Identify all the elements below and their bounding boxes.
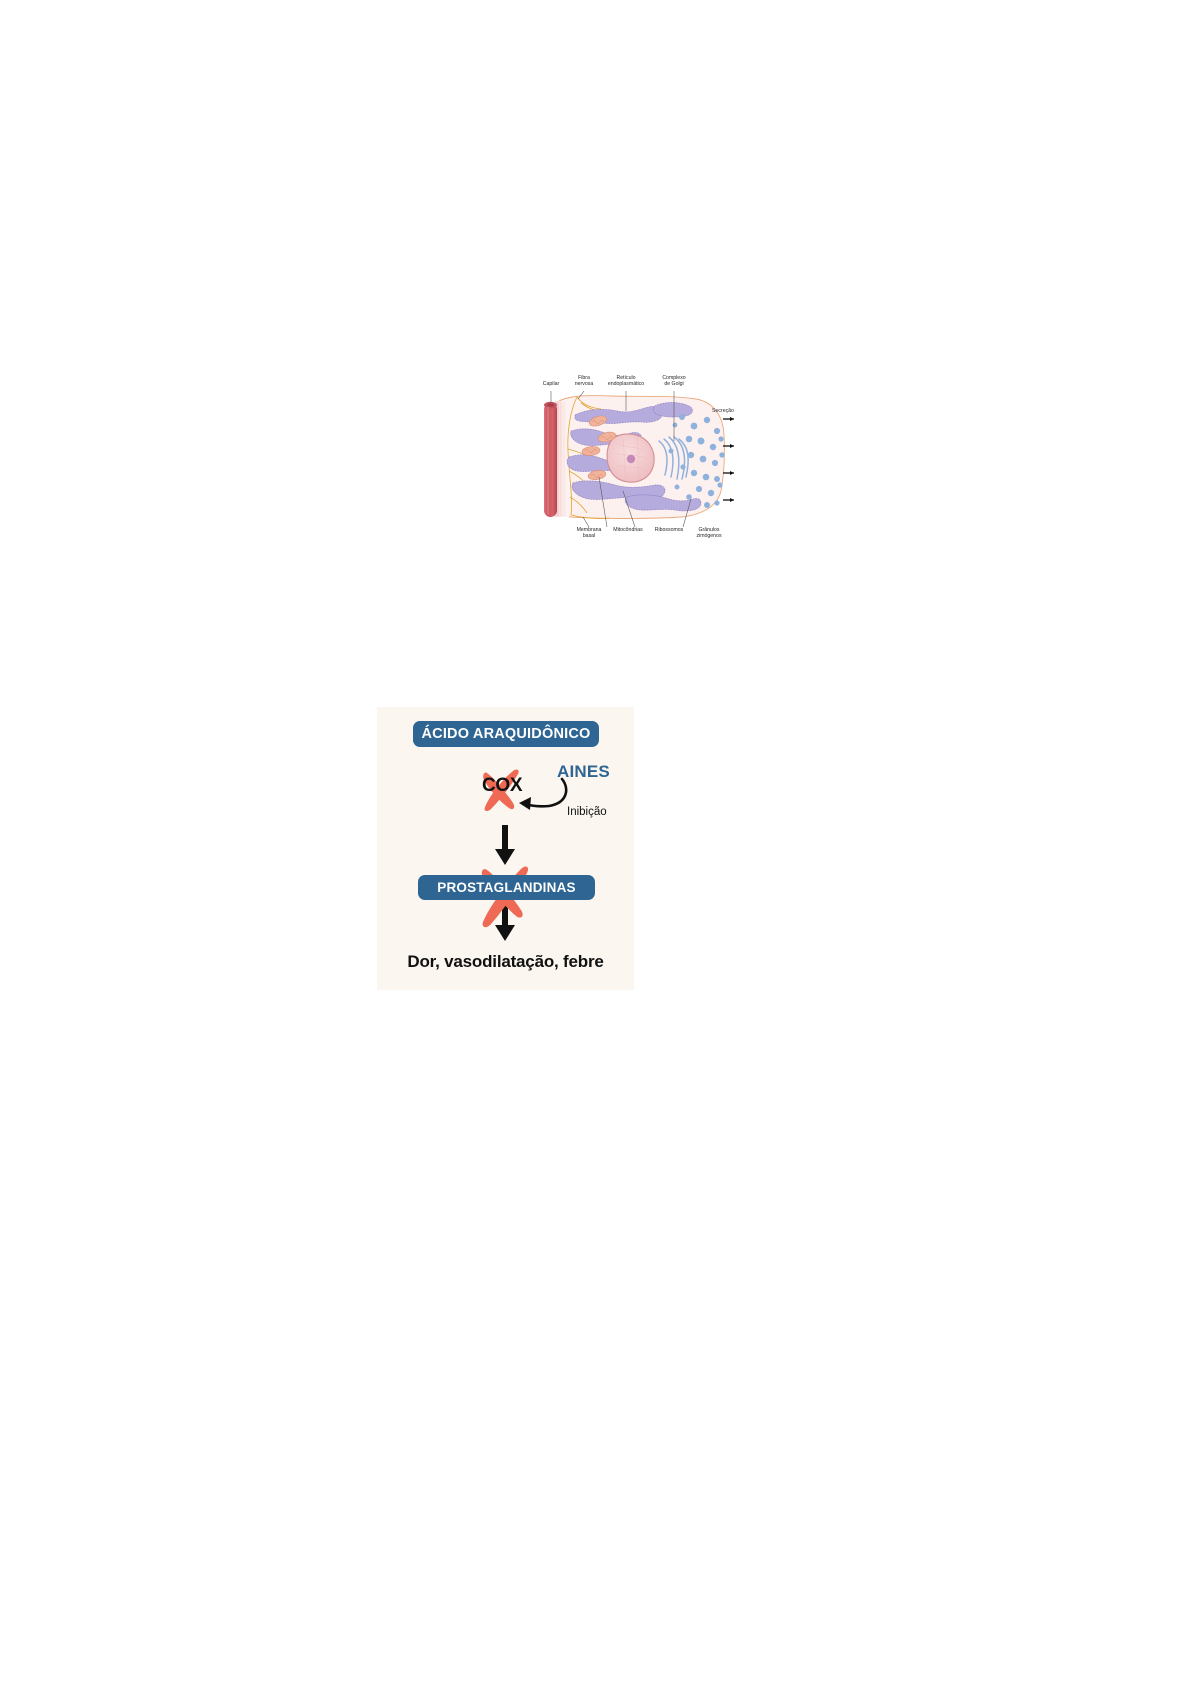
- node-prostaglandinas[interactable]: PROSTAGLANDINAS: [418, 875, 595, 900]
- arrow-inibicao: [519, 779, 566, 810]
- cell-label-golgi-line2: de Golgi: [651, 381, 697, 387]
- cell-label-secrecao-text: Secreção: [712, 408, 734, 414]
- basal-membrane: [555, 401, 569, 517]
- cell-label-ribossomos: Ribossomos: [649, 527, 689, 533]
- node-acido-araquidonico[interactable]: ÁCIDO ARAQUIDÔNICO: [413, 721, 599, 747]
- cell-label-reticulo-endoplasmatico: Retículo endoplasmático: [597, 375, 655, 387]
- cell-label-membrana-line2: basal: [569, 533, 609, 539]
- nucleolus: [627, 455, 635, 463]
- cell-label-granulos-zimogenos: Grânulos zimógenos: [689, 527, 729, 539]
- node-cox[interactable]: COX: [482, 775, 522, 797]
- node-outcome-dor-vasodilatacao-febre: Dor, vasodilatação, febre: [377, 952, 634, 972]
- cell-label-mitocondrias: Mitocôndrias: [607, 527, 649, 533]
- cell-label-mitocondrias-text: Mitocôndrias: [607, 527, 649, 533]
- cell-label-complexo-de-golgi: Complexo de Golgi: [651, 375, 697, 387]
- cell-diagram-illustration: [531, 379, 736, 539]
- aines-pathway-figure: ÁCIDO ARAQUIDÔNICO COX AINES Inibição PR…: [377, 707, 634, 990]
- node-aines[interactable]: AINES: [557, 762, 610, 782]
- cell-label-secrecao: Secreção: [707, 408, 739, 414]
- cell-label-reticulo-line2: endoplasmático: [597, 381, 655, 387]
- capillary: [544, 402, 557, 517]
- flowchart-graphics: [377, 707, 634, 990]
- cell-label-ribossomos-text: Ribossomos: [649, 527, 689, 533]
- cell-diagram-figure: Capilar Fibra nervosa Retículo endoplasm…: [531, 379, 736, 539]
- label-inibicao: Inibição: [567, 806, 607, 818]
- arrow-prostaglandinas-to-outcome: [495, 903, 515, 941]
- nucleus: [607, 434, 654, 482]
- cell-label-membrana-basal: Membrana basal: [569, 527, 609, 539]
- cell-label-granulos-line2: zimógenos: [689, 533, 729, 539]
- cell-label-capilar: Capilar: [533, 381, 569, 387]
- cell-label-capilar-text: Capilar: [543, 381, 559, 387]
- arrow-cox-to-prostaglandinas: [495, 825, 515, 865]
